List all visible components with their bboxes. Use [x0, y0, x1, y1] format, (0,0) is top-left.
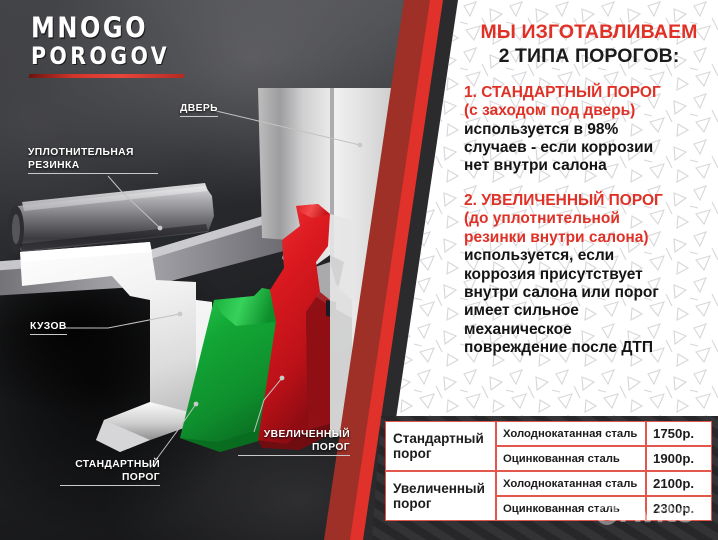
- price-material-1: Холоднокатанная сталь: [496, 421, 646, 446]
- standard-body-line-2: случаев - если коррозии: [464, 139, 714, 157]
- type-block-extended: 2. УВЕЛИЧЕННЫЙ ПОРОГ (до уплотнительной …: [464, 192, 714, 358]
- extended-body-line-1: используется, если: [464, 247, 714, 265]
- table-row: Стандартный порог Холоднокатанная сталь …: [385, 421, 712, 446]
- logo-underline-accent: [28, 74, 185, 78]
- callout-seal-label-line2: РЕЗИНКА: [28, 160, 80, 171]
- callout-body: КУЗОВ: [30, 320, 67, 335]
- price-value-4: 2300р.: [646, 496, 712, 521]
- table-row: Увеличенный порог Холоднокатанная сталь …: [385, 471, 712, 496]
- headline-line-1: МЫ ИЗГОТАВЛИВАЕМ: [464, 22, 714, 44]
- extended-body-line-5: механическое: [464, 321, 714, 339]
- marketing-copy: МЫ ИЗГОТАВЛИВАЕМ 2 ТИПА ПОРОГОВ: 1. СТАН…: [464, 22, 714, 358]
- price-material-4: Оцинкованная сталь: [496, 496, 646, 521]
- callout-standard-underline: [60, 485, 160, 486]
- type-block-standard: 1. СТАНДАРТНЫЙ ПОРОГ (с заходом под двер…: [464, 84, 714, 176]
- price-category-standard: Стандартный порог: [385, 421, 496, 471]
- callout-door: ДВЕРЬ: [180, 102, 218, 117]
- callout-standard-label-line1: СТАНДАРТНЫЙ: [75, 459, 160, 470]
- extended-body-line-6: повреждение после ДТП: [464, 339, 714, 357]
- logo-line-1: MNOGO: [31, 14, 170, 42]
- standard-body-line-1: используется в 98%: [464, 121, 714, 139]
- callout-extended-label-line2: ПОРОГ: [312, 442, 350, 453]
- price-table: Стандартный порог Холоднокатанная сталь …: [385, 421, 712, 521]
- price-material-2: Оцинкованная сталь: [496, 446, 646, 471]
- standard-body-line-3: нет внутри салона: [464, 157, 714, 175]
- extended-body-line-4: имеет сильное: [464, 302, 714, 320]
- callout-extended-label-line1: УВЕЛИЧЕННЫЙ: [264, 429, 350, 440]
- callout-door-underline: [180, 116, 218, 117]
- advertisement-banner: MNOGO POROGOV ДВЕРЬ УПЛОТНИТЕЛЬНАЯ РЕЗИН…: [0, 0, 718, 540]
- extended-subtitle-line-2: резинки внутри салона): [464, 229, 714, 247]
- callout-standard-label-line2: ПОРОГ: [122, 472, 160, 483]
- standard-subtitle: (с заходом под дверь): [464, 102, 714, 120]
- callout-extended-underline: [238, 455, 350, 456]
- price-value-2: 1900р.: [646, 446, 712, 471]
- callout-door-label: ДВЕРЬ: [180, 103, 218, 114]
- extended-title: 2. УВЕЛИЧЕННЫЙ ПОРОГ: [464, 192, 714, 210]
- headline-line-2: 2 ТИПА ПОРОГОВ:: [464, 46, 714, 68]
- callout-seal: УПЛОТНИТЕЛЬНАЯ РЕЗИНКА: [28, 146, 158, 174]
- logo-line-2: POROGOV: [31, 44, 170, 68]
- callout-standard-sill: СТАНДАРТНЫЙ ПОРОГ: [60, 458, 160, 486]
- callout-body-underline: [30, 334, 67, 335]
- callout-extended-sill: УВЕЛИЧЕННЫЙ ПОРОГ: [238, 428, 350, 456]
- extended-subtitle-line-1: (до уплотнительной: [464, 210, 714, 228]
- price-material-3: Холоднокатанная сталь: [496, 471, 646, 496]
- standard-title: 1. СТАНДАРТНЫЙ ПОРОГ: [464, 84, 714, 102]
- brand-logo: MNOGO POROGOV: [31, 14, 170, 65]
- price-value-1: 1750р.: [646, 421, 712, 446]
- callout-seal-underline: [28, 173, 158, 174]
- extended-body-line-3: внутри салона или порог: [464, 284, 714, 302]
- price-value-3: 2100р.: [646, 471, 712, 496]
- callout-body-label: КУЗОВ: [30, 321, 67, 332]
- callout-seal-label-line1: УПЛОТНИТЕЛЬНАЯ: [28, 147, 134, 158]
- extended-body-line-2: коррозия присутствует: [464, 266, 714, 284]
- price-category-extended: Увеличенный порог: [385, 471, 496, 521]
